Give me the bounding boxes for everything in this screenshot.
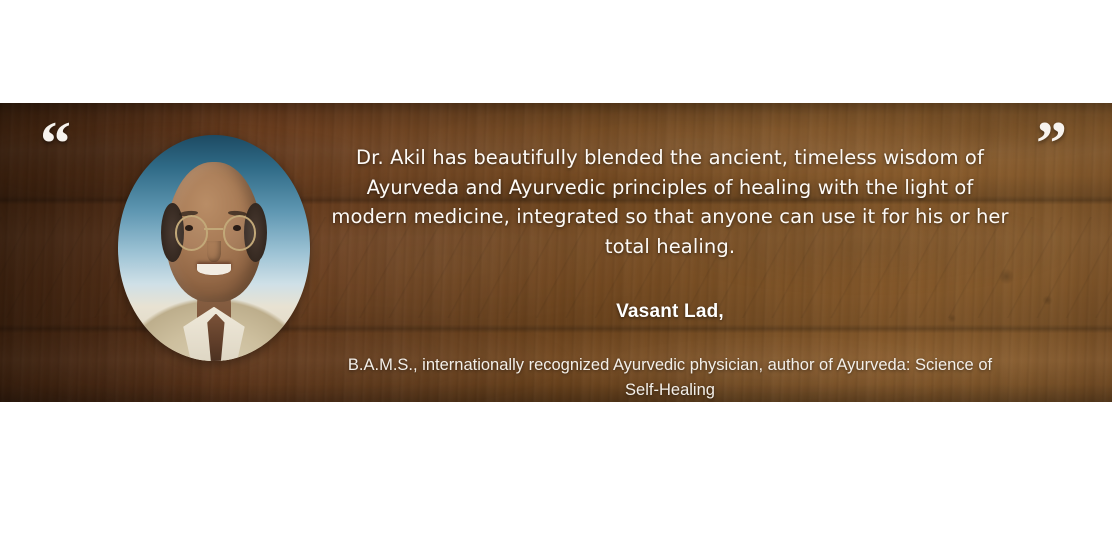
portrait-glasses-bridge xyxy=(204,228,222,230)
banner-content: “ ” xyxy=(0,103,1112,402)
testimonial-banner: “ ” xyxy=(0,103,1112,402)
close-quote-icon: ” xyxy=(1036,113,1065,175)
testimonial-text-block: Dr. Akil has beautifully blended the anc… xyxy=(330,103,1010,402)
author-portrait-avatar xyxy=(118,135,310,361)
portrait-photo xyxy=(118,135,310,361)
portrait-glasses-right-lens xyxy=(223,215,257,251)
testimonial-quote: Dr. Akil has beautifully blended the anc… xyxy=(330,103,1010,262)
portrait-glasses-left-lens xyxy=(175,215,209,251)
open-quote-icon: “ xyxy=(40,113,69,175)
testimonial-author-title: B.A.M.S., internationally recognized Ayu… xyxy=(330,323,1010,403)
testimonial-page: “ ” xyxy=(0,0,1112,542)
testimonial-author-name: Vasant Lad, xyxy=(330,262,1010,323)
portrait-nose xyxy=(207,241,220,261)
